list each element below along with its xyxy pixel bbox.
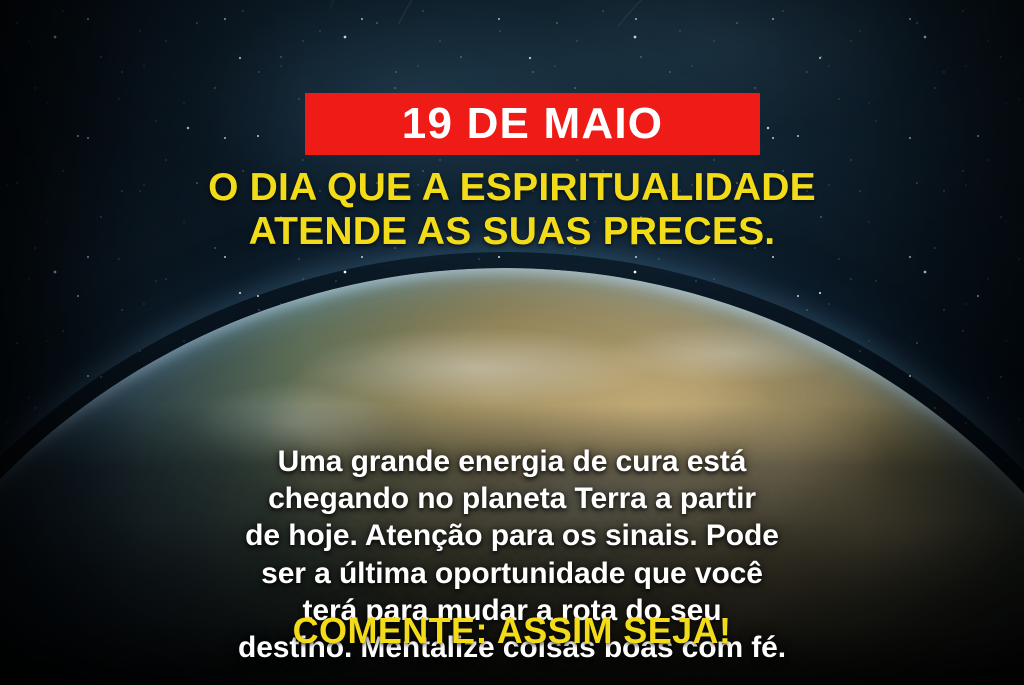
headline-line-2: ATENDE AS SUAS PRECES.: [0, 210, 1024, 254]
call-to-action-label: COMENTE: ASSIM SEJA!: [293, 610, 732, 651]
headline-line-1: O DIA QUE A ESPIRITUALIDADE: [0, 166, 1024, 210]
headline: O DIA QUE A ESPIRITUALIDADE ATENDE AS SU…: [0, 166, 1024, 255]
call-to-action: COMENTE: ASSIM SEJA!: [0, 613, 1024, 649]
date-banner-label: 19 DE MAIO: [402, 102, 663, 146]
body-line-4: ser a última oportunidade que você: [40, 555, 984, 592]
body-line-3: de hoje. Atenção para os sinais. Pode: [40, 517, 984, 554]
poster-canvas: 19 DE MAIO O DIA QUE A ESPIRITUALIDADE A…: [0, 0, 1024, 685]
poster-content: 19 DE MAIO O DIA QUE A ESPIRITUALIDADE A…: [0, 0, 1024, 685]
date-banner: 19 DE MAIO: [305, 93, 760, 155]
body-line-2: chegando no planeta Terra a partir: [40, 480, 984, 517]
body-line-1: Uma grande energia de cura está: [40, 443, 984, 480]
